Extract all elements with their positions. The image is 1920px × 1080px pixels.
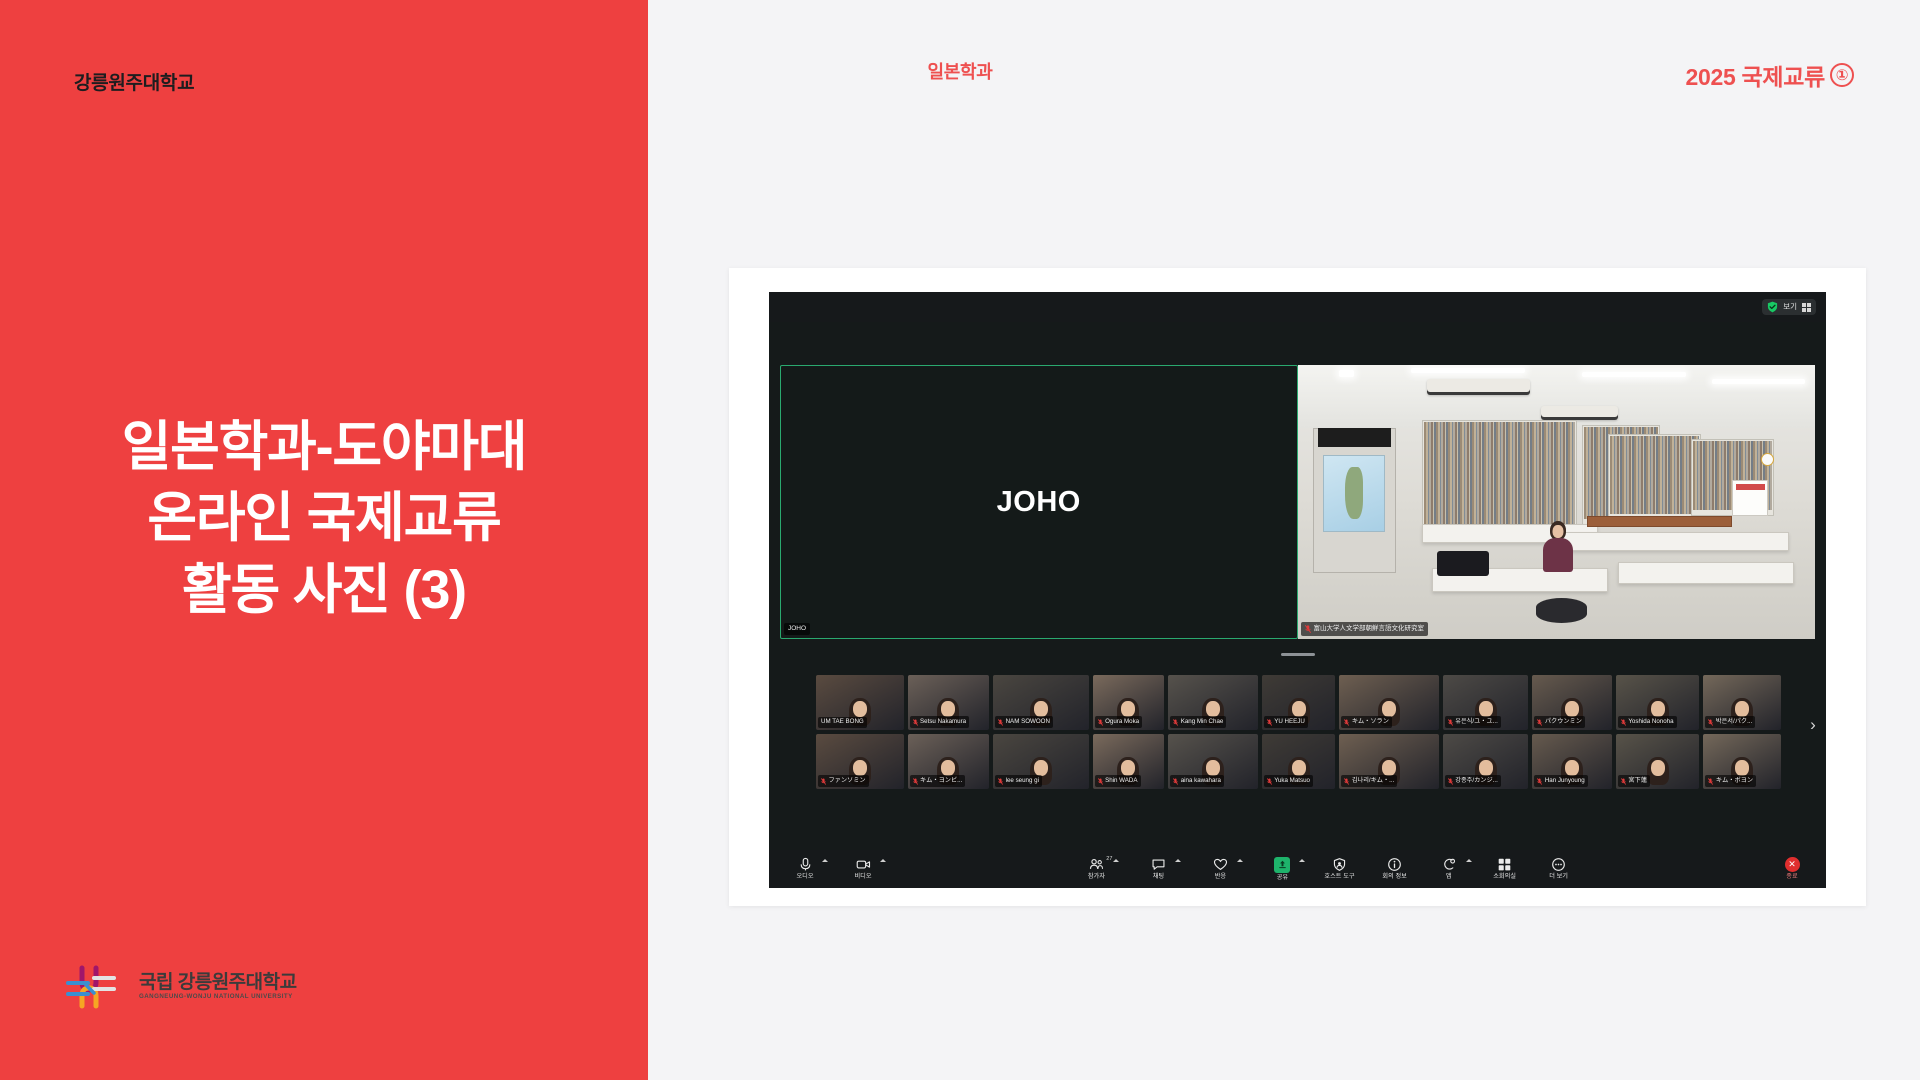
participant-name-label: キム・ボヨン [1716, 778, 1753, 784]
air-conditioner [1541, 406, 1619, 420]
mic-off-icon [1537, 778, 1542, 785]
series-label: 2025 국제교류 ① [1686, 58, 1855, 92]
grid-icon [1802, 303, 1811, 312]
participant-name-label: aina kawahara [1181, 778, 1221, 784]
conference-speaker [1536, 598, 1588, 623]
chevron-up-icon[interactable] [1466, 859, 1472, 862]
participant-thumbnail[interactable]: 宮下蓮 [1616, 734, 1700, 789]
meeting-info-label: 회의 정보 [1382, 874, 1407, 880]
apps-label: 앱 [1446, 874, 1452, 880]
participant-face [1292, 701, 1306, 717]
participant-name-tag: Yoshida Nonoha [1618, 716, 1677, 728]
slide-root: 강릉원주대학교 일본학과-도야마대 온라인 국제교류 활동 사진 (3) 국립 … [0, 0, 1920, 1080]
apps-button[interactable]: 앱 [1429, 850, 1469, 888]
participants-count: 27 [1106, 856, 1112, 862]
participant-thumbnail[interactable]: 김나리/キム・... [1339, 734, 1438, 789]
mic-off-icon [1708, 778, 1713, 785]
participant-name-tag: Ogura Moka [1095, 716, 1143, 728]
participant-name-label: パクウンミン [1545, 719, 1582, 725]
mic-off-icon [1098, 778, 1103, 785]
participant-name-tag: Han Junyoung [1534, 775, 1587, 787]
participant-thumbnail[interactable]: キム・ヨンビ... [908, 734, 990, 789]
mic-off-icon [913, 778, 918, 785]
participant-thumbnail[interactable]: ファンソミン [816, 734, 904, 789]
heart-icon [1213, 857, 1228, 872]
video-camera-icon [856, 857, 871, 872]
page-title: 일본학과-도야마대 온라인 국제교류 활동 사진 (3) [0, 412, 648, 626]
microphone-icon [798, 857, 813, 872]
participant-face [1735, 701, 1749, 717]
reactions-label: 반응 [1215, 874, 1226, 880]
mic-off-icon [1305, 625, 1311, 633]
department-label: 일본학과 [0, 58, 1920, 84]
mic-off-icon [1267, 719, 1272, 726]
mic-off-icon [1344, 719, 1349, 726]
door-transom [1318, 428, 1390, 447]
participant-face [1382, 701, 1396, 717]
participant-thumbnail[interactable]: Han Junyoung [1532, 734, 1612, 789]
page-title-line-1: 일본학과-도야마대 [0, 412, 648, 483]
logo-english-name: GANGNEUNG-WONJU NATIONAL UNIVERSITY [139, 994, 297, 1000]
university-logo-text: 국립 강릉원주대학교 GANGNEUNG-WONJU NATIONAL UNIV… [139, 973, 297, 1000]
shield-check-icon [1767, 301, 1778, 313]
participant-name-tag: 富山大学人文学部朝鮮言語文化研究室 [1301, 622, 1429, 636]
participant-name-tag: lee seung gi [995, 775, 1042, 787]
participant-name-tag: キム・ヨンビ... [910, 775, 966, 787]
mic-off-icon [998, 778, 1003, 785]
chevron-up-icon[interactable] [1237, 859, 1243, 862]
participants-button[interactable]: 27 참가자 [1076, 850, 1116, 888]
mic-off-icon [1448, 778, 1453, 785]
chat-button[interactable]: 채팅 [1138, 850, 1178, 888]
mic-off-icon [1708, 719, 1713, 726]
participant-name-label: 김나리/キム・... [1352, 778, 1395, 784]
participant-name-label: 富山大学人文学部朝鮮言語文化研究室 [1314, 626, 1425, 633]
participant-face [941, 701, 955, 717]
participant-name-tag: Setsu Nakamura [910, 716, 970, 728]
chevron-up-icon[interactable] [1299, 859, 1305, 862]
mic-off-icon [1173, 719, 1178, 726]
participant-thumbnail-strip: UM TAE BONGSetsu NakamuraNAM SOWOONOgura… [816, 675, 1781, 789]
shared-screen-text: JOHO [997, 486, 1081, 519]
mic-off-icon [913, 719, 918, 726]
mic-off-icon [998, 719, 1003, 726]
view-mode-label: 보기 [1783, 303, 1797, 311]
participant-thumbnail[interactable]: キム・ボヨン [1703, 734, 1781, 789]
participant-face [853, 760, 867, 776]
participant-name-label: lee seung gi [1006, 778, 1039, 784]
participant-name-tag: 유은식/ユ・ユ... [1445, 716, 1501, 728]
zoom-top-bar: 보기 [769, 292, 1826, 322]
end-call-icon: ✕ [1785, 857, 1800, 872]
participant-face [1565, 701, 1579, 717]
wall-map [1323, 455, 1385, 532]
chevron-up-icon[interactable] [822, 859, 828, 862]
participant-face [1121, 701, 1135, 717]
bookshelf [1608, 434, 1701, 522]
chat-label: 채팅 [1153, 874, 1164, 880]
breakout-rooms-icon [1497, 857, 1512, 872]
thumbnail-row: UM TAE BONGSetsu NakamuraNAM SOWOONOgura… [816, 675, 1781, 730]
video-label: 비디오 [854, 874, 871, 880]
shared-screen-tile[interactable]: JOHO JOHO [780, 365, 1298, 639]
participant-name-tag: Yuka Matsuo [1264, 775, 1313, 787]
host-shield-icon [1332, 857, 1347, 872]
participant-video-tile[interactable]: 富山大学人文学部朝鮮言語文化研究室 [1298, 365, 1816, 639]
participants-icon [1089, 857, 1104, 872]
chat-bubble-icon [1151, 857, 1166, 872]
apps-icon [1441, 857, 1456, 872]
mic-off-icon [1537, 719, 1542, 726]
stage-resize-handle[interactable] [1281, 653, 1315, 656]
participant-name-tag: 김나리/キム・... [1341, 775, 1397, 787]
series-number-badge: ① [1830, 63, 1854, 87]
participant-thumbnail[interactable]: NAM SOWOON [993, 675, 1088, 730]
classroom-table [1618, 562, 1794, 584]
participant-face [1735, 760, 1749, 776]
participant-name-tag: キム・ソラン [1341, 716, 1392, 728]
participant-thumbnail[interactable]: 강종주/カンジ... [1443, 734, 1529, 789]
participant-name-tag: 강종주/カンジ... [1445, 775, 1501, 787]
participant-name-label: Shin WADA [1105, 778, 1137, 784]
video-button[interactable]: 비디오 [843, 850, 883, 888]
share-screen-icon [1274, 857, 1290, 873]
thumbnail-row: ファンソミンキム・ヨンビ...lee seung giShin WADAaina… [816, 734, 1781, 789]
participant-face [1121, 760, 1135, 776]
participant-face [1206, 701, 1220, 717]
participant-thumbnail[interactable]: パクウンミン [1532, 675, 1612, 730]
participant-name-label: Yoshida Nonoha [1628, 719, 1673, 725]
ceiling-light [1712, 379, 1805, 384]
participant-thumbnail[interactable]: キム・ソラン [1339, 675, 1438, 730]
participant-name-label: YU HEEJU [1274, 719, 1305, 725]
participant-name-label: キム・ヨンビ... [920, 778, 962, 784]
page-title-line-2: 온라인 국제교류 [0, 483, 648, 554]
participant-thumbnail[interactable]: 박은서/パク... [1703, 675, 1781, 730]
participant-thumbnail[interactable]: YU HEEJU [1262, 675, 1336, 730]
host-tools-button[interactable]: 호스트 도구 [1318, 850, 1360, 888]
participant-name-label: キム・ソラン [1352, 719, 1389, 725]
audio-button[interactable]: 오디오 [785, 850, 825, 888]
participant-name-tag: aina kawahara [1170, 775, 1224, 787]
mic-off-icon [1098, 719, 1103, 726]
mic-off-icon [1267, 778, 1272, 785]
info-icon [1387, 857, 1402, 872]
participant-name-label: Yuka Matsuo [1274, 778, 1310, 784]
participant-name-label: 유은식/ユ・ユ... [1455, 719, 1498, 725]
zoom-stage: JOHO JOHO [780, 365, 1815, 639]
participant-name-tag: UM TAE BONG [818, 717, 867, 728]
participant-name-tag: YU HEEJU [1264, 716, 1308, 728]
participant-name-tag: Shin WADA [1095, 775, 1141, 787]
ceiling-light [1582, 372, 1686, 377]
view-mode-button[interactable]: 보기 [1762, 299, 1816, 315]
university-logo-symbol-icon [64, 956, 126, 1018]
breakout-rooms-button[interactable]: 소회의실 [1485, 850, 1525, 888]
participant-name-tag: NAM SOWOON [995, 716, 1053, 728]
chevron-up-icon[interactable] [1175, 859, 1181, 862]
page-title-line-3: 활동 사진 (3) [0, 555, 648, 626]
share-screen-button[interactable]: 공유 [1262, 850, 1302, 888]
seated-person [1541, 521, 1575, 573]
shared-screen-name-label: JOHO [788, 626, 806, 633]
mic-off-icon [1621, 778, 1626, 785]
participant-thumbnail[interactable]: Setsu Nakamura [908, 675, 990, 730]
meeting-info-button[interactable]: 회의 정보 [1375, 850, 1415, 888]
participant-thumbnail[interactable]: lee seung gi [993, 734, 1088, 789]
ceiling-light [1339, 370, 1355, 377]
participant-name-label: Han Junyoung [1545, 778, 1585, 784]
chevron-up-icon[interactable] [1113, 859, 1119, 862]
participant-face [1034, 760, 1048, 776]
participant-face [1565, 760, 1579, 776]
participant-name-label: Setsu Nakamura [920, 719, 966, 725]
participant-face [1479, 701, 1493, 717]
air-conditioner [1427, 379, 1531, 395]
participant-face [941, 760, 955, 776]
left-accent-panel: 강릉원주대학교 일본학과-도야마대 온라인 국제교류 활동 사진 (3) 국립 … [0, 0, 648, 1080]
participant-thumbnail[interactable]: Yuka Matsuo [1262, 734, 1336, 789]
end-meeting-label: 종료 [1786, 874, 1797, 880]
screenshot-frame: 보기 JOHO JOHO [729, 268, 1866, 906]
mic-off-icon [1173, 778, 1178, 785]
participant-name-tag: 박은서/パク... [1705, 716, 1755, 728]
participant-name-tag: 宮下蓮 [1618, 775, 1650, 787]
participant-name-label: 박은서/パク... [1716, 719, 1752, 725]
ceiling-light [1411, 368, 1525, 373]
participant-face [1292, 760, 1306, 776]
participant-face [1651, 760, 1665, 776]
participant-name-tag: パクウンミン [1534, 716, 1585, 728]
end-meeting-button[interactable]: ✕ 종료 [1772, 850, 1812, 888]
participant-name-tag: キム・ボヨン [1705, 775, 1756, 787]
wall-calendar [1732, 480, 1768, 516]
participant-name-tag: ファンソミン [818, 775, 869, 787]
breakout-rooms-label: 소회의실 [1493, 874, 1516, 880]
handbag [1437, 551, 1489, 576]
more-options-button[interactable]: 더 보기 [1539, 850, 1579, 888]
shared-screen-name-tag: JOHO [784, 623, 810, 636]
mic-off-icon [1448, 719, 1453, 726]
participant-name-label: UM TAE BONG [821, 719, 864, 725]
participant-thumbnail[interactable]: Yoshida Nonoha [1616, 675, 1700, 730]
more-horizontal-icon [1551, 857, 1566, 872]
mic-off-icon [821, 778, 826, 785]
participant-name-label: 宮下蓮 [1628, 778, 1647, 784]
participant-name-label: Kang Min Chae [1181, 719, 1224, 725]
participant-thumbnail[interactable]: 유은식/ユ・ユ... [1443, 675, 1529, 730]
participant-thumbnail[interactable]: aina kawahara [1168, 734, 1258, 789]
more-options-label: 더 보기 [1549, 874, 1568, 880]
reactions-button[interactable]: 반응 [1200, 850, 1240, 888]
wooden-table [1587, 516, 1732, 527]
participant-thumbnail[interactable]: UM TAE BONG [816, 675, 904, 730]
participant-face [1206, 760, 1220, 776]
participant-thumbnail[interactable]: Kang Min Chae [1168, 675, 1258, 730]
logo-korean-name: 국립 강릉원주대학교 [139, 973, 297, 992]
zoom-toolbar: 오디오 비디오 [769, 850, 1826, 888]
chevron-right-icon[interactable]: › [1806, 714, 1820, 736]
series-label-text: 2025 국제교류 [1686, 58, 1826, 92]
participant-name-label: NAM SOWOON [1006, 719, 1050, 725]
wall-clock [1761, 453, 1774, 466]
mic-off-icon [1344, 778, 1349, 785]
participant-face [853, 701, 867, 717]
share-screen-label: 공유 [1277, 875, 1288, 881]
participant-face [1651, 701, 1665, 717]
chevron-up-icon[interactable] [880, 859, 886, 862]
participant-name-label: 강종주/カンジ... [1455, 778, 1498, 784]
bookshelf [1422, 420, 1577, 535]
university-logo: 국립 강릉원주대학교 GANGNEUNG-WONJU NATIONAL UNIV… [64, 956, 297, 1018]
participant-name-label: ファンソミン [829, 778, 866, 784]
mic-off-icon [1621, 719, 1626, 726]
audio-label: 오디오 [796, 874, 813, 880]
participant-face [1034, 701, 1048, 717]
host-tools-label: 호스트 도구 [1324, 874, 1354, 880]
participant-thumbnail[interactable]: Ogura Moka [1093, 675, 1165, 730]
participant-face [1479, 760, 1493, 776]
zoom-meeting-window: 보기 JOHO JOHO [769, 292, 1826, 888]
participant-name-label: Ogura Moka [1105, 719, 1139, 725]
participants-label: 참가자 [1088, 874, 1105, 880]
classroom-table [1556, 532, 1789, 551]
participant-name-tag: Kang Min Chae [1170, 716, 1226, 728]
participant-face [1382, 760, 1396, 776]
participant-thumbnail[interactable]: Shin WADA [1093, 734, 1165, 789]
